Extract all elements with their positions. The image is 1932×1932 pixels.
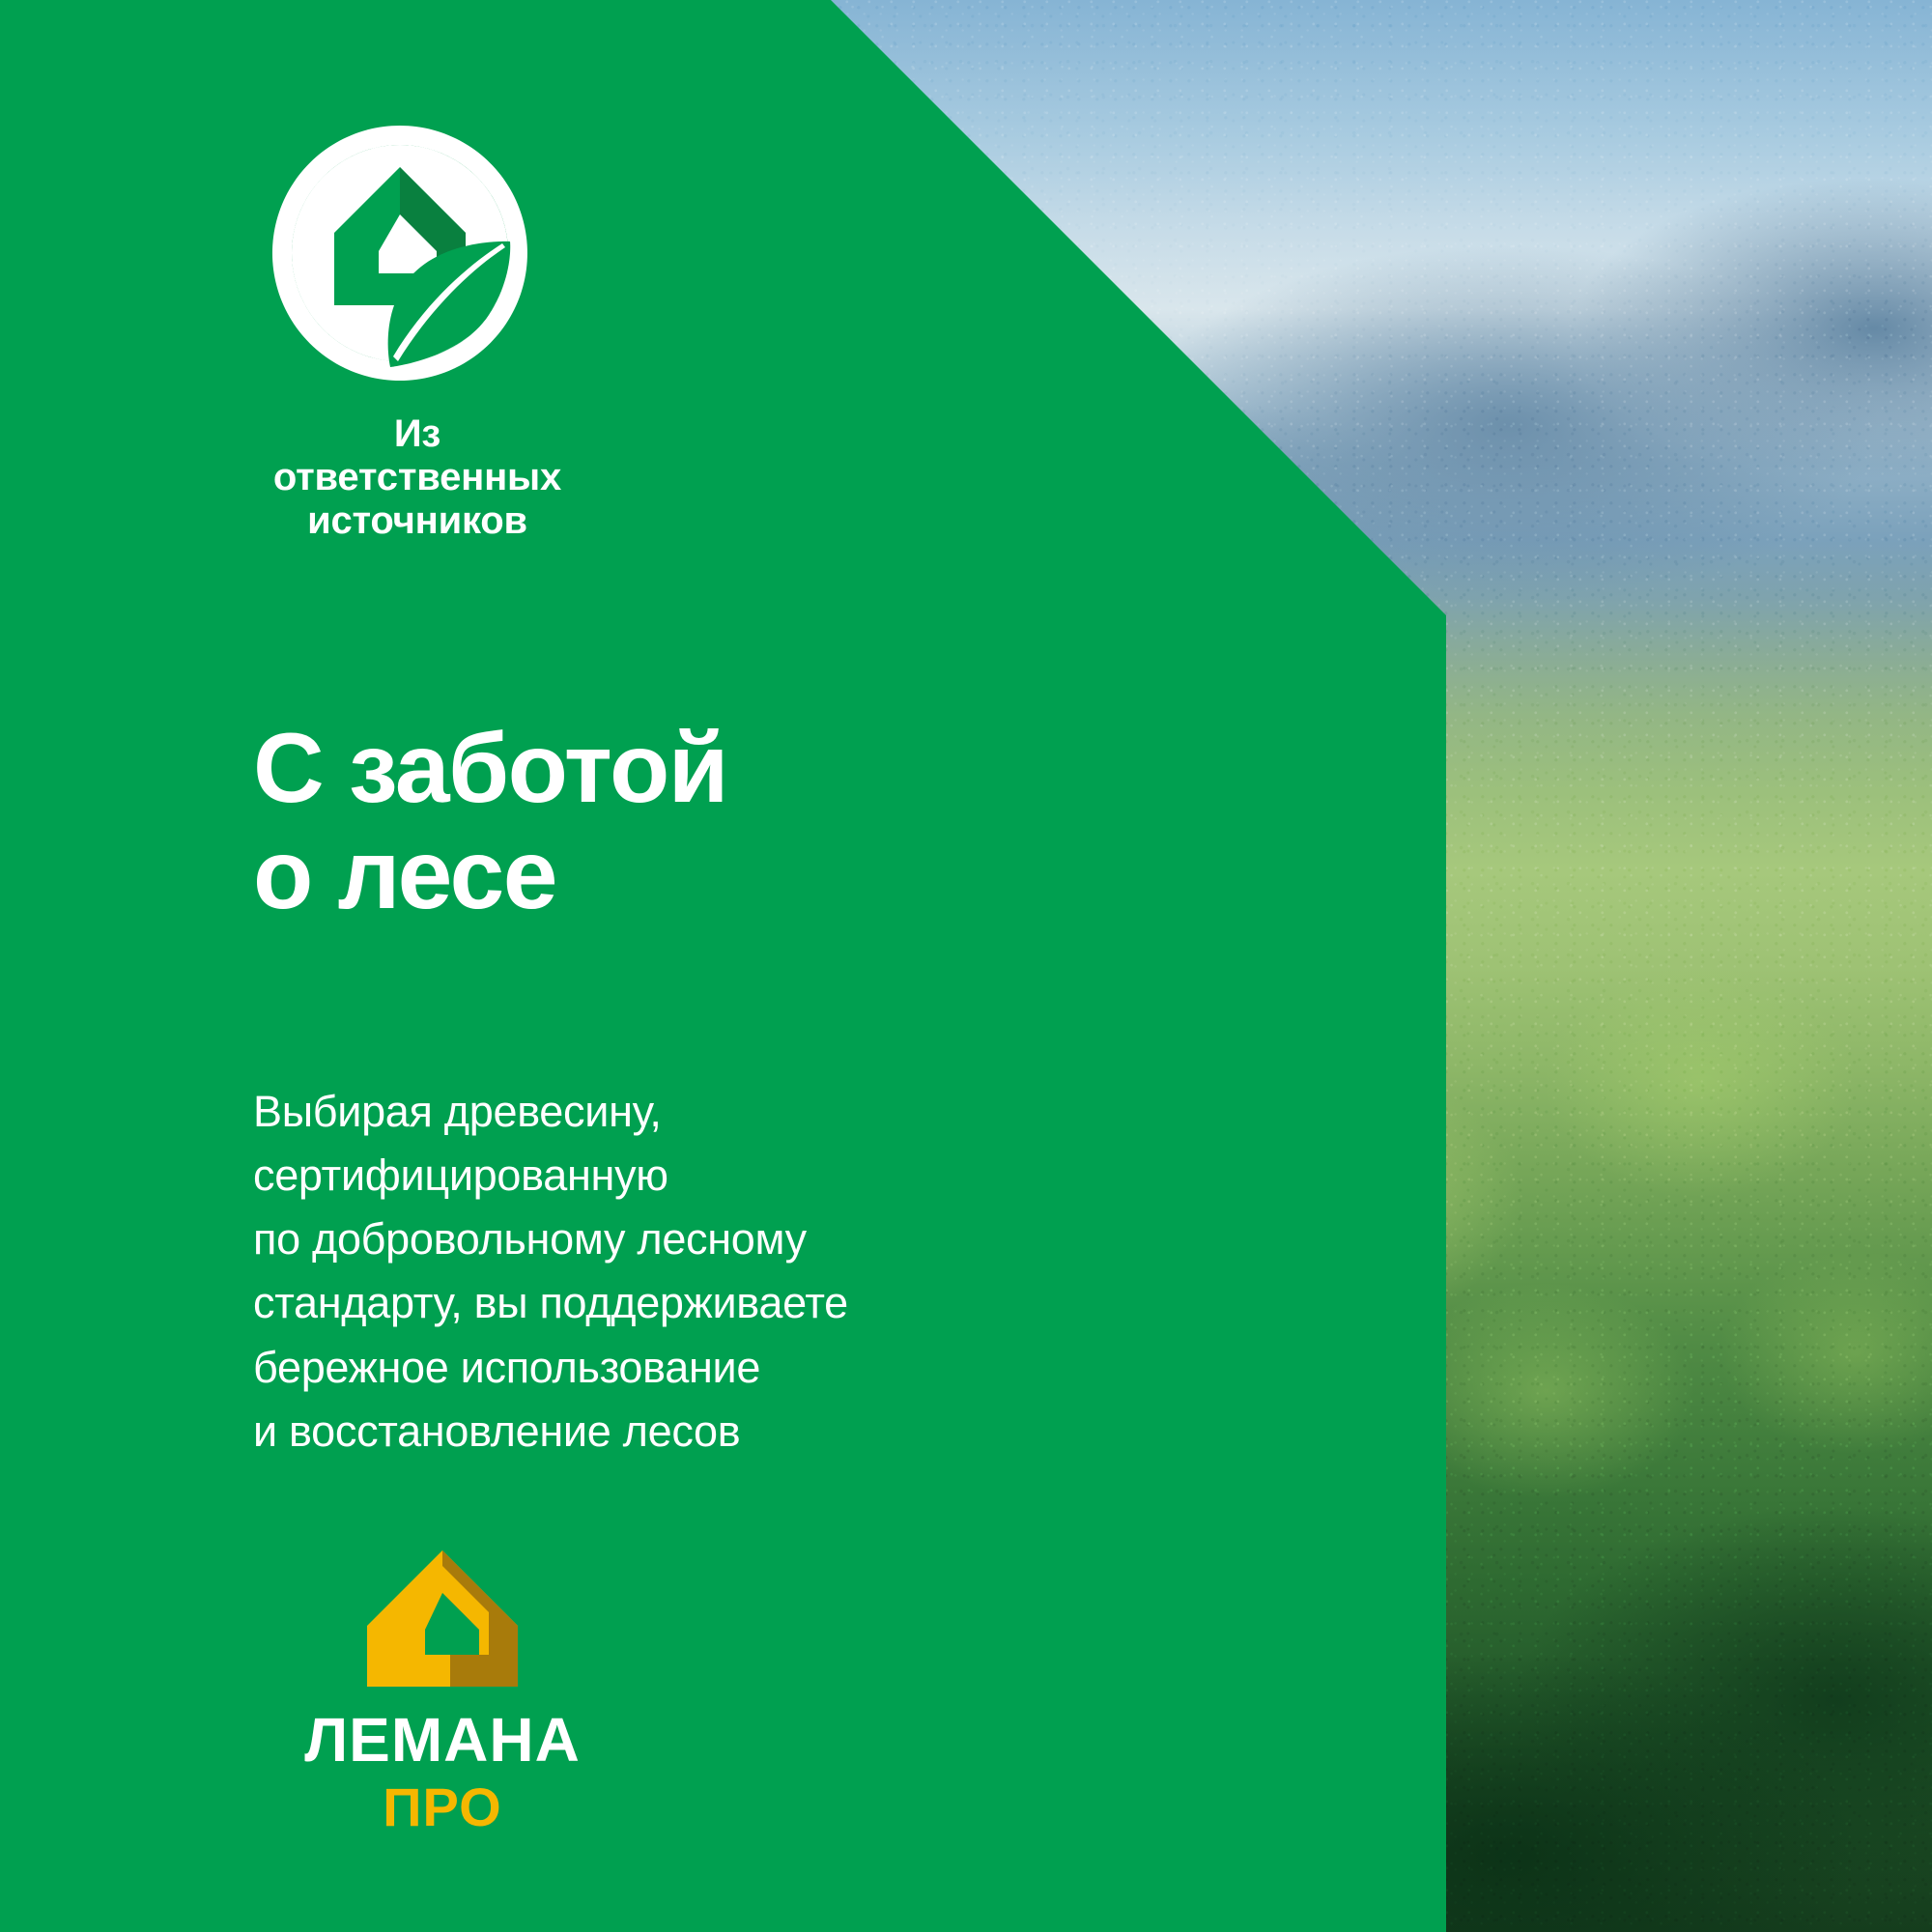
body-paragraph: Выбирая древесину, сертифицированную по … <box>253 1080 848 1463</box>
certification-caption: Из ответственных источников <box>253 412 582 544</box>
responsible-sources-mark-icon <box>270 124 529 383</box>
svg-text:ЛЕМАНА: ЛЕМАНА <box>304 1708 581 1772</box>
lemana-wordmark: ЛЕМАНА <box>283 1708 602 1772</box>
svg-text:ПРО: ПРО <box>383 1779 501 1835</box>
poster: Из ответственных источников С заботой о … <box>0 0 1932 1932</box>
headline: С заботой о лесе <box>253 715 727 927</box>
lemana-house-icon <box>365 1548 520 1689</box>
brand-lockup: ЛЕМАНА ПРО <box>259 1548 626 1835</box>
pro-wordmark: ПРО <box>346 1779 539 1835</box>
certification-badge: Из ответственных источников <box>253 124 659 544</box>
poster-content: Из ответственных источников С заботой о … <box>0 0 1932 1932</box>
